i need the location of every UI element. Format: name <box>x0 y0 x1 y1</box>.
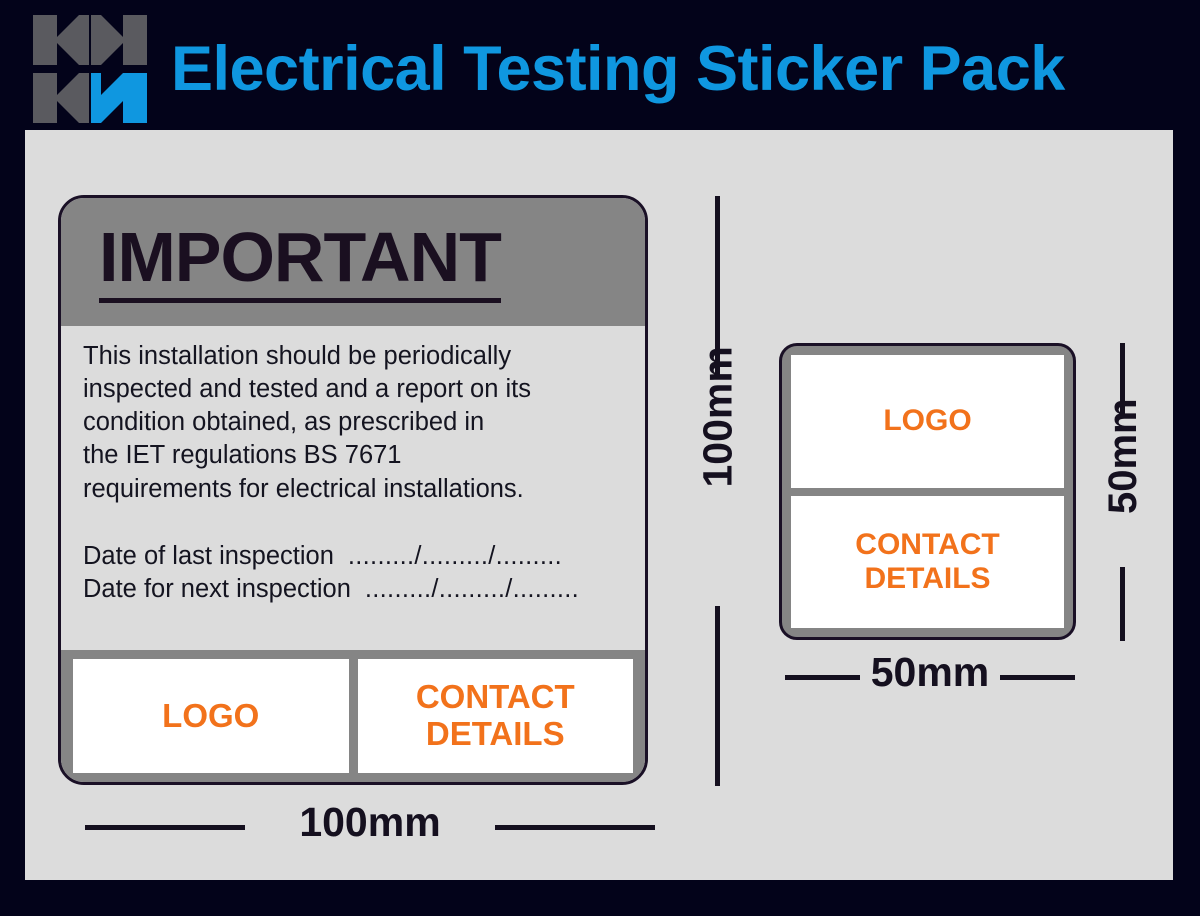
sticker-large-100mm[interactable]: IMPORTANT This installation should be pe… <box>58 195 648 785</box>
dimension-line-large-width-right <box>495 825 655 830</box>
large-logo-label: LOGO <box>162 698 259 735</box>
content-panel: IMPORTANT This installation should be pe… <box>25 130 1173 880</box>
large-contact-label: CONTACT DETAILS <box>416 679 575 753</box>
header-bar: Electrical Testing Sticker Pack <box>25 8 1173 130</box>
dimension-line-large-width-left <box>85 825 245 830</box>
dimension-line-small-width-left <box>785 675 860 680</box>
four-arrows-inward-logo-icon <box>27 13 155 125</box>
dimension-label-large-width: 100mm <box>250 802 490 843</box>
date-next-inspection-blank[interactable]: ........./........./......... <box>365 573 579 606</box>
sticker-large-body: This installation should be periodically… <box>61 326 645 650</box>
date-fields: Date of last inspection ........./......… <box>83 540 623 606</box>
date-last-inspection-blank[interactable]: ........./........./......... <box>348 540 562 573</box>
sticker-large-header-band: IMPORTANT <box>61 198 645 326</box>
large-contact-placeholder[interactable]: CONTACT DETAILS <box>358 659 634 773</box>
page-title: Electrical Testing Sticker Pack <box>171 38 1065 101</box>
date-row-next-inspection: Date for next inspection ........./.....… <box>83 573 623 606</box>
dimension-label-large-height: 100mm <box>698 414 739 488</box>
poster-canvas: Electrical Testing Sticker Pack IMPORTAN… <box>0 0 1200 916</box>
dimension-line-large-height-bottom <box>715 606 720 786</box>
date-next-inspection-label: Date for next inspection <box>83 573 351 606</box>
small-contact-label: CONTACT DETAILS <box>855 528 999 595</box>
large-logo-placeholder[interactable]: LOGO <box>73 659 349 773</box>
important-heading: IMPORTANT <box>99 222 501 303</box>
small-logo-label: LOGO <box>883 404 971 438</box>
dimension-label-small-height: 50mm <box>1103 442 1143 514</box>
date-last-inspection-label: Date of last inspection <box>83 540 334 573</box>
sticker-large-footer-band: LOGO CONTACT DETAILS <box>61 650 645 782</box>
dimension-label-small-width: 50mm <box>860 652 1000 693</box>
dimension-line-small-width-right <box>1000 675 1075 680</box>
sticker-small-50mm[interactable]: LOGO CONTACT DETAILS <box>779 343 1076 640</box>
sticker-body-text: This installation should be periodically… <box>83 340 623 506</box>
dimension-line-small-height-bottom <box>1120 567 1125 641</box>
small-contact-placeholder[interactable]: CONTACT DETAILS <box>791 496 1064 629</box>
small-logo-placeholder[interactable]: LOGO <box>791 355 1064 488</box>
date-row-last-inspection: Date of last inspection ........./......… <box>83 540 623 573</box>
